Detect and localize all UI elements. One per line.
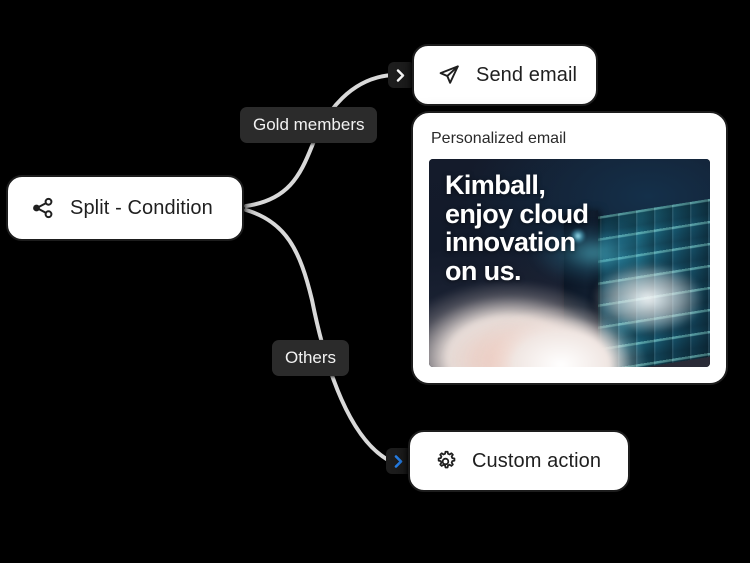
email-hero-image: Kimball, enjoy cloud innovation on us. xyxy=(429,159,710,367)
node-custom-action[interactable]: Custom action xyxy=(408,430,630,492)
node-send-email[interactable]: Send email xyxy=(412,44,598,106)
share-split-icon xyxy=(30,195,56,221)
edge-arrow-gold-members[interactable] xyxy=(388,62,412,88)
chevron-right-icon xyxy=(395,69,406,82)
edge-arrow-others[interactable] xyxy=(386,448,410,474)
email-preview-title: Personalized email xyxy=(431,129,710,148)
node-label-send-email: Send email xyxy=(476,65,577,85)
paper-plane-icon xyxy=(436,62,462,88)
journey-canvas[interactable]: Split - Condition Send email Custom acti xyxy=(0,0,750,563)
node-label-split-condition: Split - Condition xyxy=(70,198,213,218)
edge-label-gold-members[interactable]: Gold members xyxy=(240,107,377,143)
node-label-custom-action: Custom action xyxy=(472,451,601,471)
gear-icon xyxy=(432,448,458,474)
node-split-condition[interactable]: Split - Condition xyxy=(6,175,244,241)
email-preview-card[interactable]: Personalized email Kimball, enjoy cloud … xyxy=(411,111,728,385)
edge-label-others[interactable]: Others xyxy=(272,340,349,376)
email-headline-text: Kimball, enjoy cloud innovation on us. xyxy=(445,171,622,285)
edge-path-others xyxy=(246,210,390,461)
chevron-right-icon xyxy=(393,455,404,468)
